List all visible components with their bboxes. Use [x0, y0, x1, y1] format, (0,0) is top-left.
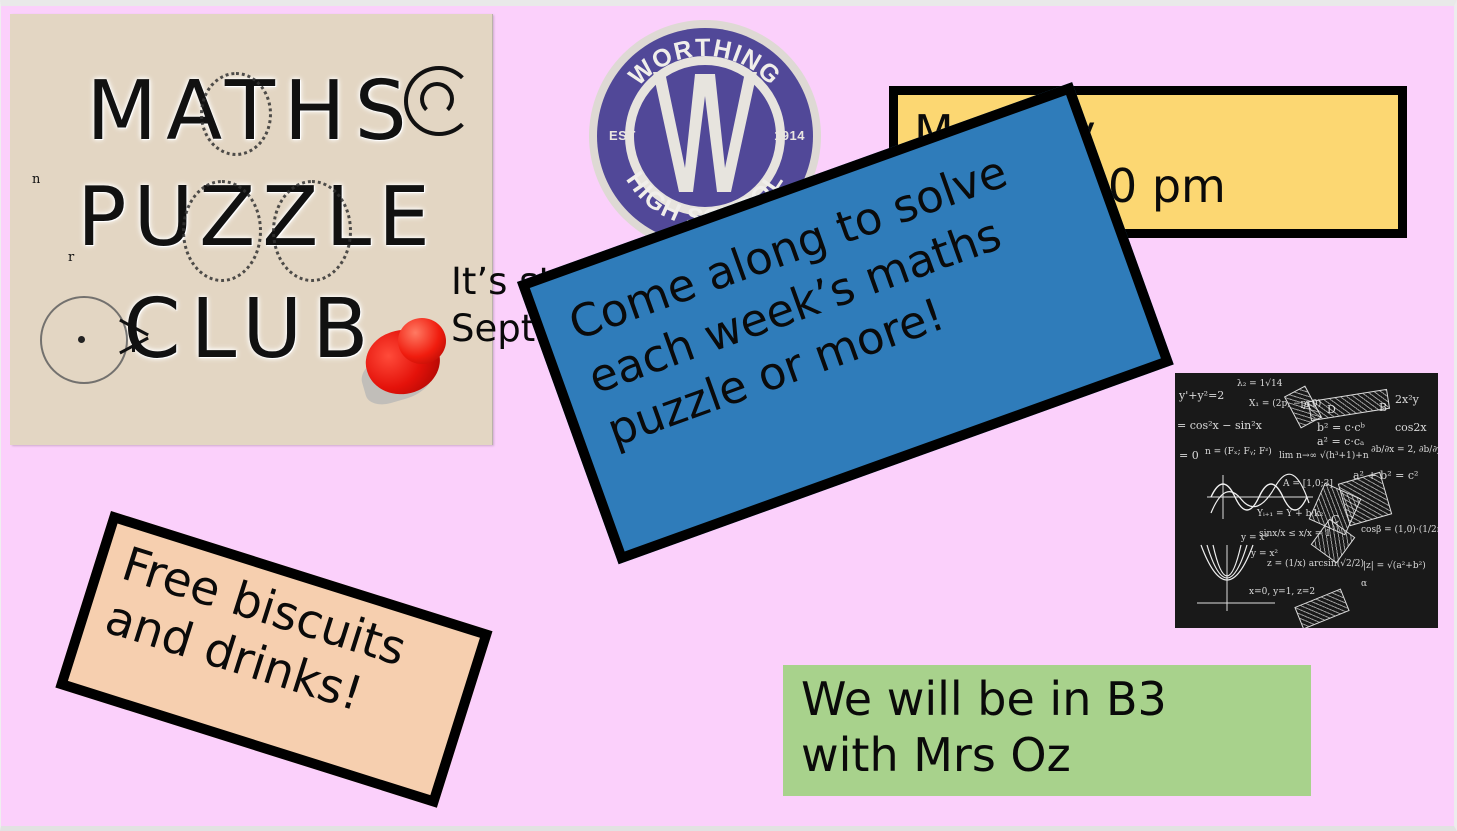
- compass-centre-dot-icon: [78, 336, 85, 343]
- superscript-r-label: r: [68, 250, 74, 265]
- chalk-parabola-graph-icon: [1193, 541, 1279, 613]
- chalk-formula: |z| = √(a²+b²): [1363, 561, 1426, 571]
- chalk-formula: a² = c·cₐ: [1317, 435, 1364, 448]
- chalk-formula: cosβ = (1,0)·(1/2π₂): [1361, 525, 1438, 535]
- chalk-formula: z = (1/x) arcsin(√2/2): [1267, 559, 1364, 569]
- crest-w-monogram-icon: [649, 66, 761, 206]
- chalk-formula: y'+y²=2: [1179, 389, 1224, 402]
- poster-canvas: MATHS PUZZLE CLUB n r: [0, 0, 1457, 831]
- chalk-formula: cos2x: [1395, 421, 1427, 434]
- superscript-n-label: n: [32, 172, 40, 187]
- location-line-1: We will be in B3: [801, 671, 1311, 727]
- spiral-icon: [404, 66, 474, 136]
- dotted-oval-icon: [182, 180, 262, 282]
- crest-est-label: EST: [609, 128, 636, 143]
- chalk-formula: 2x²y: [1395, 393, 1419, 406]
- push-pin-icon: [358, 310, 458, 418]
- maths-chalkboard-image[interactable]: y'+y²=2 = cos²x − sin²x = 0 n = (Fₓ; Fᵧ;…: [1175, 373, 1438, 628]
- chalk-formula: ∂b/∂x = 2, ∂b/∂y: [1371, 445, 1438, 455]
- dotted-circle-icon: [200, 72, 272, 156]
- maths-puzzle-club-image[interactable]: MATHS PUZZLE CLUB n r: [10, 14, 492, 445]
- chalk-sine-graph-icon: [1205, 469, 1315, 523]
- chalk-formula: = 0: [1179, 449, 1199, 462]
- dotted-oval-icon: [272, 180, 352, 282]
- push-pin-knob: [398, 318, 446, 364]
- location-line-2: with Mrs Oz: [801, 727, 1311, 783]
- chalk-formula: n = (Fₓ; Fᵧ; Fᶻ): [1205, 447, 1272, 457]
- chalk-formula: lim n→∞ √(h³+1)+n: [1279, 451, 1369, 461]
- chalk-formula: b² = c·cᵇ: [1317, 421, 1365, 434]
- chalk-hatched-shape: [1308, 389, 1390, 421]
- chalk-formula: λ₂ = 1√14: [1237, 379, 1283, 389]
- chalk-formula: = cos²x − sin²x: [1177, 419, 1262, 432]
- refreshments-box[interactable]: Free biscuits and drinks!: [55, 511, 492, 808]
- crest-year-label: 1914: [774, 128, 805, 143]
- chalk-label: α: [1361, 579, 1367, 589]
- location-box[interactable]: We will be in B3 with Mrs Oz: [783, 665, 1311, 796]
